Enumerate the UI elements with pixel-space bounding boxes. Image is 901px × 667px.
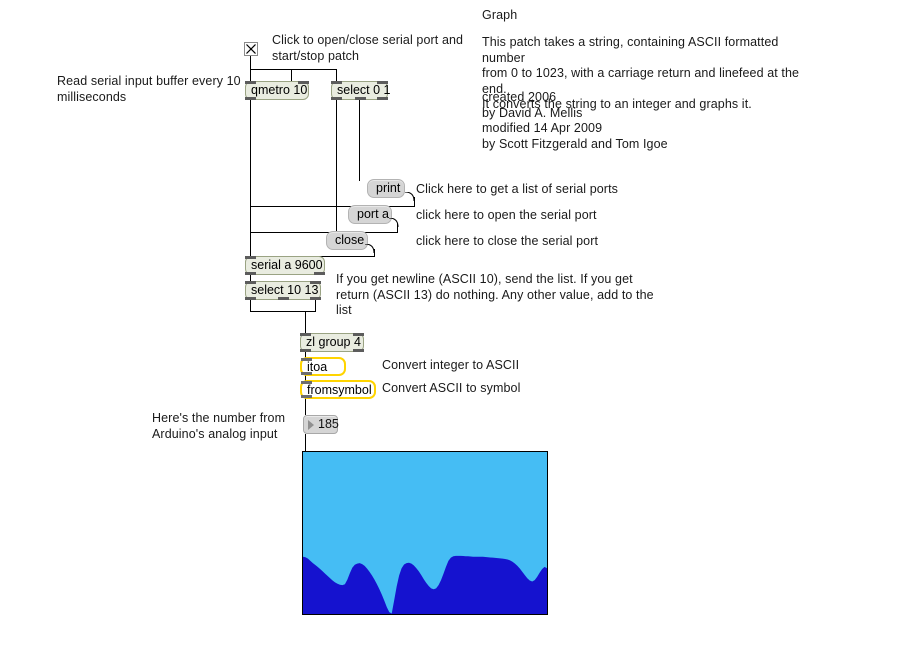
inlet-nub — [245, 281, 256, 284]
object-serial[interactable]: serial a 9600 — [245, 256, 325, 275]
wire-select-out1 — [336, 100, 337, 233]
object-zl-group-label: zl group 4 — [306, 335, 361, 349]
toggle-x-icon — [245, 43, 257, 55]
object-select-0-1-label: select 0 1 — [337, 83, 391, 97]
credits-line-3: modified 14 Apr 2009 — [482, 121, 602, 135]
outlet-nub — [278, 297, 289, 300]
credits-line-4: by Scott Fitzgerald and Tom Igoe — [482, 137, 668, 151]
comment-itoa-hint: Convert integer to ASCII — [382, 358, 602, 374]
outlet-nub — [353, 349, 364, 352]
graph-plot — [303, 452, 547, 614]
comment-graph-title: Graph — [482, 8, 682, 24]
outlet-nub — [245, 97, 256, 100]
inlet-nub — [301, 358, 312, 361]
wire-bus-to-zl — [305, 311, 306, 333]
outlet-nub — [377, 97, 388, 100]
wire-port-to-serial-h — [250, 232, 398, 233]
object-select-10-13-label: select 10 13 — [251, 283, 318, 297]
object-qmetro[interactable]: qmetro 10 — [245, 81, 309, 100]
outlet-nub — [300, 349, 311, 352]
comment-metro-hint: Read serial input buffer every 10 millis… — [57, 74, 257, 105]
object-serial-label: serial a 9600 — [251, 258, 323, 272]
outlet-nub — [310, 297, 321, 300]
wire-number-to-graph — [305, 434, 306, 451]
wire-serial-to-select1013 — [250, 274, 251, 281]
object-select-0-1[interactable]: select 0 1 — [331, 81, 388, 100]
number-box-analog-value[interactable]: 185 — [303, 415, 338, 434]
comment-port-hint: click here to open the serial port — [416, 208, 676, 224]
patch-canvas: Graph This patch takes a string, contain… — [0, 0, 901, 667]
message-print[interactable]: print — [367, 179, 405, 198]
object-select-10-13[interactable]: select 10 13 — [245, 281, 321, 300]
outlet-nub — [355, 97, 366, 100]
comment-select-hint: If you get newline (ASCII 10), send the … — [336, 272, 656, 319]
message-print-tail — [405, 192, 416, 201]
outlet-nub — [245, 297, 256, 300]
object-qmetro-label: qmetro 10 — [251, 83, 307, 97]
description-line-1: This patch takes a string, containing AS… — [482, 35, 782, 65]
message-port-a-tail — [389, 218, 400, 227]
wire-select1013-bus — [250, 311, 316, 312]
message-close[interactable]: close — [326, 231, 368, 250]
inlet-nub — [245, 81, 256, 84]
outlet-nub — [301, 395, 312, 398]
object-zl-group[interactable]: zl group 4 — [300, 333, 364, 352]
comment-close-hint: click here to close the serial port — [416, 234, 676, 250]
wire-select-out2 — [359, 100, 360, 181]
object-fromsymbol[interactable]: fromsymbol — [300, 380, 376, 399]
wire-toggle-down — [250, 56, 251, 70]
inlet-nub — [298, 81, 309, 84]
message-port-a[interactable]: port a — [348, 205, 392, 224]
credits-line-2: by David A. Mellis — [482, 106, 582, 120]
inlet-nub — [245, 256, 256, 259]
inlet-nub — [300, 333, 311, 336]
outlet-nub — [301, 372, 312, 375]
graph-display[interactable] — [302, 451, 548, 615]
inlet-nub — [377, 81, 388, 84]
inlet-nub — [331, 81, 342, 84]
comment-patch-credits: created 2006by David A. Mellismodified 1… — [482, 90, 782, 152]
toggle-serial-onoff[interactable] — [244, 42, 258, 56]
inlet-nub — [310, 281, 321, 284]
outlet-nub — [314, 272, 325, 275]
number-box-triangle-icon — [308, 420, 314, 430]
inlet-nub — [353, 333, 364, 336]
number-box-value: 185 — [318, 417, 339, 431]
message-port-a-label: port a — [357, 207, 389, 221]
message-close-tail — [365, 244, 376, 253]
message-print-label: print — [376, 181, 400, 195]
message-close-label: close — [335, 233, 364, 247]
outlet-nub — [245, 272, 256, 275]
inlet-nub — [301, 381, 312, 384]
object-fromsymbol-label: fromsymbol — [307, 383, 372, 397]
wire-toggle-to-select-h — [250, 69, 292, 70]
comment-toggle-hint: Click to open/close serial port and star… — [272, 33, 487, 64]
comment-print-hint: Click here to get a list of serial ports — [416, 182, 676, 198]
wire-select1013-out3 — [315, 300, 316, 312]
object-itoa[interactable]: itoa — [300, 357, 346, 376]
comment-fromsymbol-hint: Convert ASCII to symbol — [382, 381, 602, 397]
wire-fromsymbol-to-number — [305, 398, 306, 415]
credits-line-1: created 2006 — [482, 90, 556, 104]
outlet-nub — [331, 97, 342, 100]
wire-select-inlet-h — [291, 69, 337, 70]
